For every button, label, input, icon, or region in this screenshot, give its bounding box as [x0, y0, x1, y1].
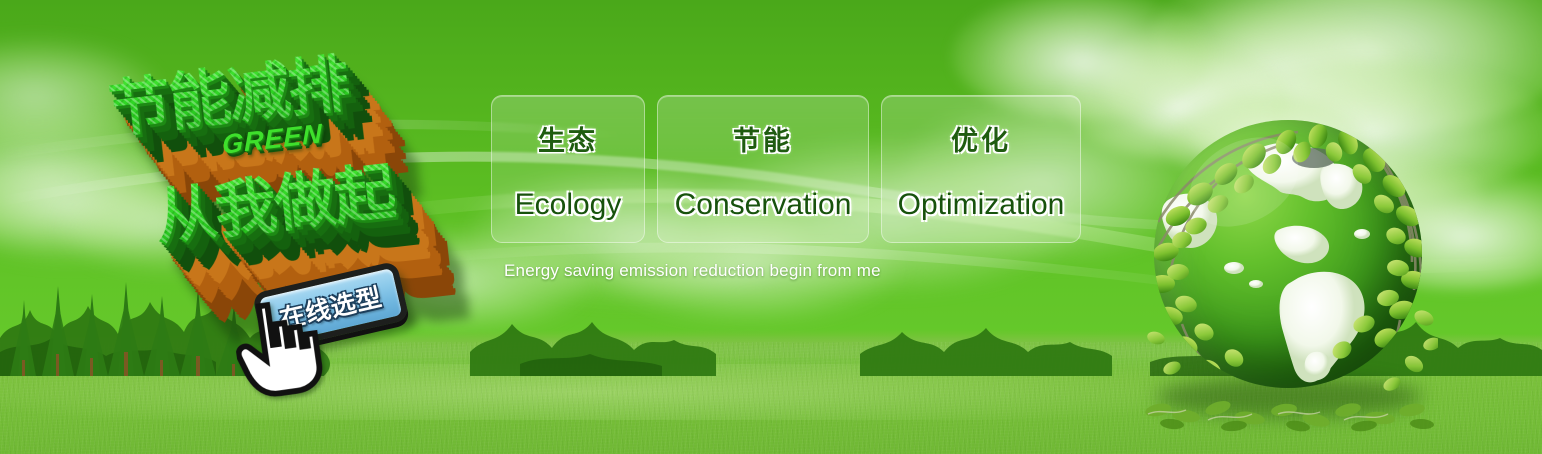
leaf-litter: [1082, 364, 1494, 434]
feature-card-conservation-cn: 节能: [733, 119, 793, 158]
feature-card-conservation-en: Conservation: [675, 188, 852, 222]
banner-title-3d-art: 节能减排 GREEN 从我做起: [92, 36, 492, 264]
title-line-2: 从我做起: [150, 141, 399, 258]
feature-card-ecology-cn: 生态: [538, 119, 598, 158]
feature-card-optimization-cn: 优化: [951, 119, 1011, 158]
feature-card-conservation[interactable]: 节能 Conservation: [657, 95, 869, 243]
feature-card-ecology-en: Ecology: [515, 188, 622, 222]
feature-card-optimization-en: Optimization: [898, 188, 1065, 222]
green-energy-banner: 节能减排 GREEN 从我做起 生态 Ecology 节能 Conservati…: [0, 0, 1542, 454]
banner-tagline: Energy saving emission reduction begin f…: [504, 261, 881, 281]
pointing-hand-cursor-icon: [230, 294, 334, 402]
feature-card-optimization[interactable]: 优化 Optimization: [881, 95, 1081, 243]
title-line-2-text: 从我做起: [150, 141, 399, 258]
leafy-globe-graphic: [1138, 112, 1438, 422]
feature-card-group: 生态 Ecology 节能 Conservation 优化 Optimizati…: [491, 95, 1081, 243]
feature-card-ecology[interactable]: 生态 Ecology: [491, 95, 645, 243]
